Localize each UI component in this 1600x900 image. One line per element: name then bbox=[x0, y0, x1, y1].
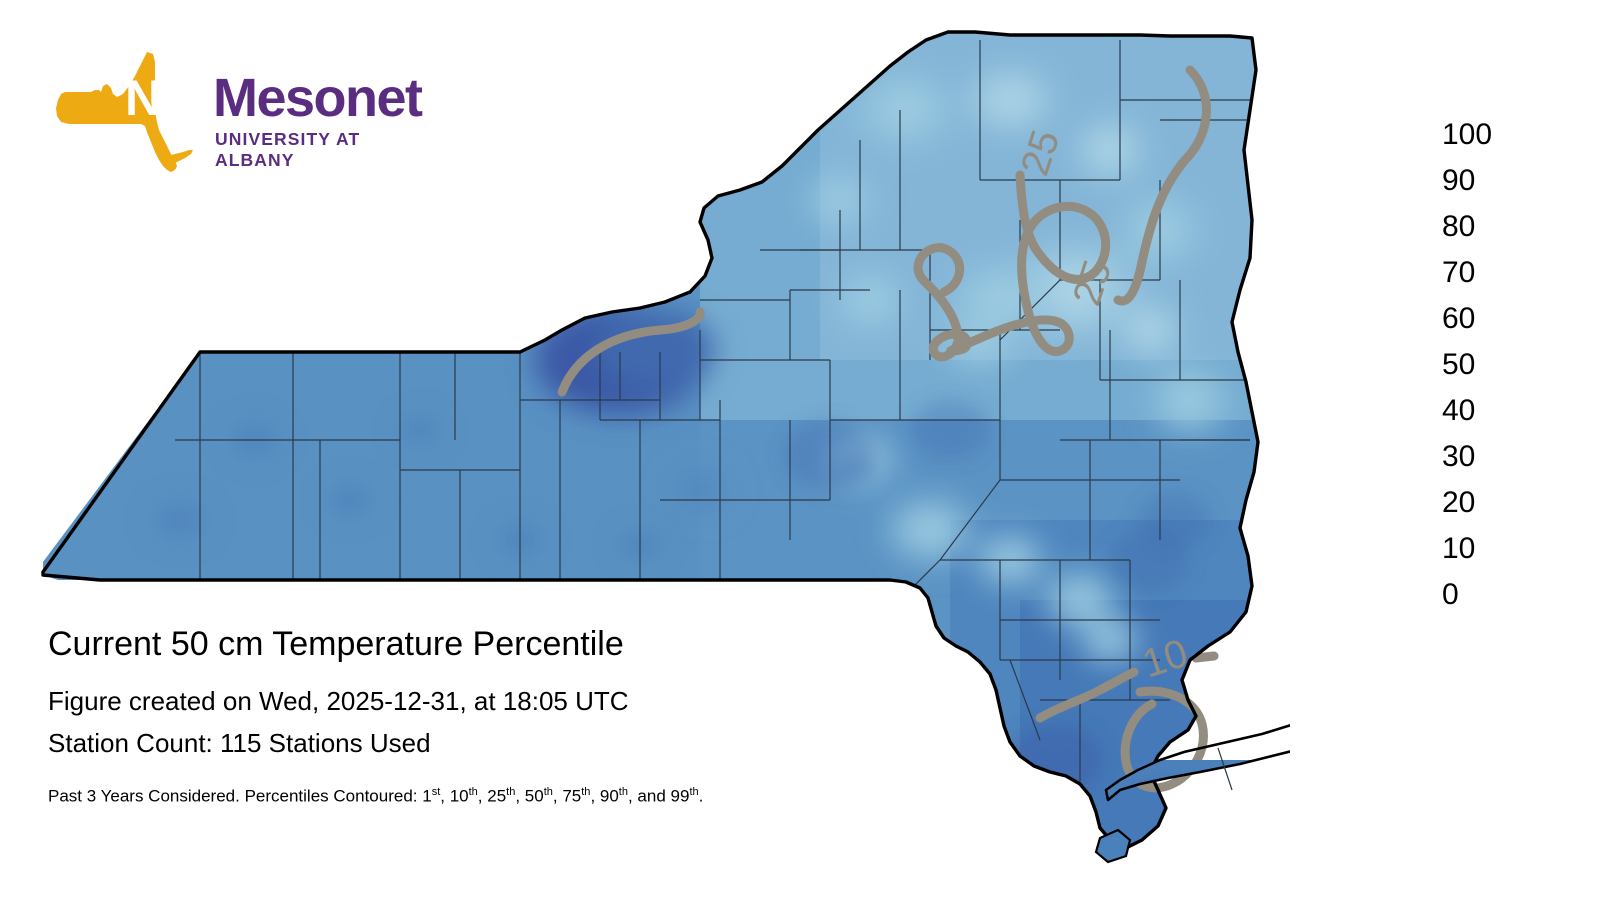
logo-nys-text: NYS bbox=[125, 72, 225, 124]
station-count-label: Station Count: 115 Stations Used bbox=[48, 722, 1008, 764]
caption-block: Current 50 cm Temperature Percentile Fig… bbox=[48, 622, 1008, 807]
colorbar-tick-80: 80 bbox=[1442, 212, 1475, 242]
staten-island bbox=[1096, 830, 1130, 862]
contour-footnote: Past 3 Years Considered. Percentiles Con… bbox=[48, 786, 1008, 807]
page-title: Current 50 cm Temperature Percentile bbox=[48, 622, 1008, 666]
footnote-sup-6: th bbox=[619, 786, 628, 798]
footnote-prefix: Past 3 Years Considered. Percentiles Con… bbox=[48, 787, 432, 806]
logo-mesonet-text: Mesonet bbox=[213, 70, 422, 126]
footnote-sup-2: th bbox=[469, 786, 478, 798]
colorbar-tick-50: 50 bbox=[1442, 350, 1475, 380]
footnote-t6: , 90 bbox=[590, 787, 618, 806]
footnote-t4: , 50 bbox=[515, 787, 543, 806]
colorbar-tick-0: 0 bbox=[1442, 580, 1459, 610]
contour-10-tick bbox=[1196, 656, 1214, 658]
colorbar-tick-70: 70 bbox=[1442, 258, 1475, 288]
nys-mesonet-logo: NYS Mesonet UNIVERSITY AT ALBANY bbox=[55, 50, 405, 175]
logo-tagline-text: UNIVERSITY AT ALBANY bbox=[215, 129, 405, 171]
footnote-t7: , and 99 bbox=[628, 787, 689, 806]
colorbar-gradient-strip bbox=[1332, 129, 1425, 593]
footnote-sup-4: th bbox=[544, 786, 553, 798]
footnote-t8: . bbox=[699, 787, 704, 806]
footnote-sup-3: th bbox=[506, 786, 515, 798]
footnote-t5: , 75 bbox=[553, 787, 581, 806]
colorbar-tick-30: 30 bbox=[1442, 442, 1475, 472]
colorbar: 100 90 80 70 60 50 40 30 20 10 0 bbox=[1332, 120, 1562, 610]
footnote-sup-7: th bbox=[689, 786, 698, 798]
colorbar-tick-90: 90 bbox=[1442, 166, 1475, 196]
footnote-t2: , 10 bbox=[440, 787, 468, 806]
colorbar-tick-60: 60 bbox=[1442, 304, 1475, 334]
colorbar-tick-10: 10 bbox=[1442, 534, 1475, 564]
colorbar-tick-100: 100 bbox=[1442, 120, 1492, 150]
logo-wordmark: NYS Mesonet UNIVERSITY AT ALBANY bbox=[125, 72, 405, 162]
colorbar-tick-40: 40 bbox=[1442, 396, 1475, 426]
colorbar-tick-20: 20 bbox=[1442, 488, 1475, 518]
figure-created-timestamp: Figure created on Wed, 2025-12-31, at 18… bbox=[48, 680, 1008, 722]
footnote-t3: , 25 bbox=[478, 787, 506, 806]
footnote-sup-1: st bbox=[432, 786, 441, 798]
